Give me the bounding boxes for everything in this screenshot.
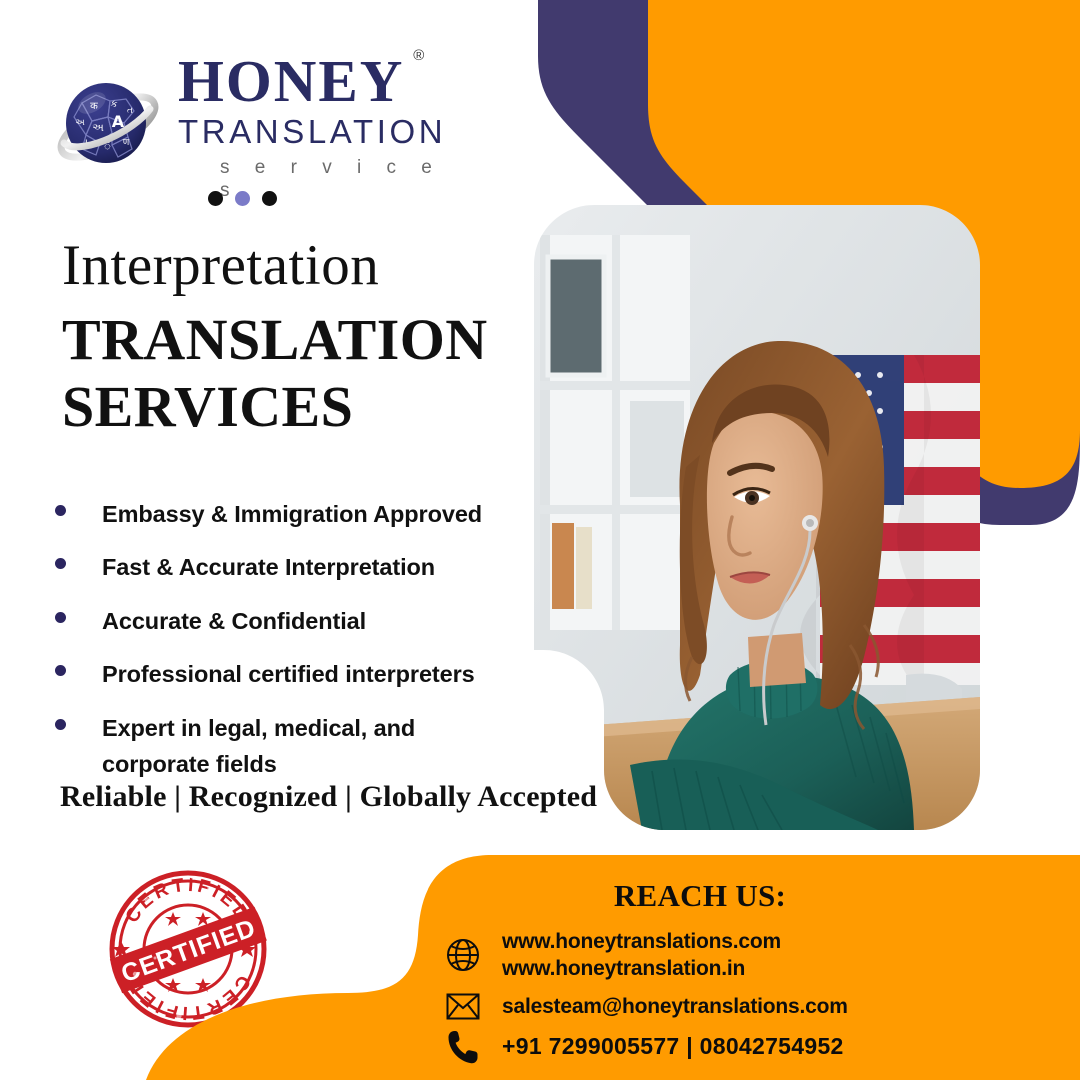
headline-script-line: Interpretation — [62, 236, 532, 296]
list-item: Expert in legal, medical, and corporate … — [55, 710, 535, 783]
website-line-2[interactable]: www.honeytranslation.in — [502, 955, 781, 982]
bullet-dot-icon — [55, 612, 66, 623]
svg-text:અ: અ — [75, 118, 85, 128]
poster-canvas: क ક ત અ અ A ط ் ण — [0, 0, 1080, 1080]
list-item: Professional certified interpreters — [55, 656, 535, 692]
bullet-dot-icon — [55, 719, 66, 730]
decorative-dot-3 — [262, 191, 277, 206]
list-item: Accurate & Confidential — [55, 603, 535, 639]
decorative-dot-1 — [208, 191, 223, 206]
brand-logo[interactable]: क ક ત અ અ A ط ் ण — [52, 48, 472, 203]
logo-line-translation: TRANSLATION — [178, 113, 472, 151]
reach-us-title: REACH US: — [440, 878, 960, 914]
globe-icon — [440, 938, 486, 972]
logo-wordmark: HONEY® — [178, 52, 404, 111]
feature-text: Accurate & Confidential — [102, 603, 366, 639]
bullet-dot-icon — [55, 505, 66, 516]
svg-text:અ: અ — [92, 121, 104, 134]
contact-row-phone[interactable]: +91 7299005577 | 08042754952 — [440, 1030, 1070, 1064]
registered-mark-icon: ® — [413, 48, 424, 63]
feature-text: Fast & Accurate Interpretation — [102, 549, 435, 585]
headline-block: Interpretation TRANSLATION SERVICES — [62, 236, 532, 440]
list-item: Fast & Accurate Interpretation — [55, 549, 535, 585]
website-line-1[interactable]: www.honeytranslations.com — [502, 928, 781, 955]
hero-photo-frame — [534, 205, 980, 830]
headline-bold-line-1: TRANSLATION — [62, 306, 532, 373]
decorative-dot-2 — [235, 191, 250, 206]
feature-list: Embassy & Immigration Approved Fast & Ac… — [55, 496, 535, 800]
list-item: Embassy & Immigration Approved — [55, 496, 535, 532]
decorative-dots — [208, 191, 277, 206]
feature-text: Professional certified interpreters — [102, 656, 475, 692]
globe-languages-icon: क ક ત અ અ A ط ் ण — [52, 69, 164, 181]
feature-text: Expert in legal, medical, and corporate … — [102, 710, 452, 783]
envelope-icon — [440, 993, 486, 1020]
headline-bold-line-2: SERVICES — [62, 373, 532, 440]
bullet-dot-icon — [55, 665, 66, 676]
contact-row-email[interactable]: salesteam@honeytranslations.com — [440, 993, 1070, 1020]
phone-icon — [440, 1030, 486, 1064]
hero-photo — [534, 205, 980, 830]
website-text[interactable]: www.honeytranslations.com www.honeytrans… — [502, 928, 781, 983]
feature-text: Embassy & Immigration Approved — [102, 496, 482, 532]
tagline: Reliable | Recognized | Globally Accepte… — [60, 780, 597, 814]
phone-text[interactable]: +91 7299005577 | 08042754952 — [502, 1032, 844, 1062]
bullet-dot-icon — [55, 558, 66, 569]
svg-text:ण: ण — [123, 138, 130, 148]
certified-stamp-icon: CERTIFIED CERTIFIED CERTIFIED — [105, 866, 271, 1032]
reach-us-content: REACH US: www.honeytranslations.com www.… — [440, 878, 1070, 1074]
email-text[interactable]: salesteam@honeytranslations.com — [502, 993, 848, 1020]
contact-row-website[interactable]: www.honeytranslations.com www.honeytrans… — [440, 928, 1070, 983]
svg-text:ત: ત — [127, 106, 133, 116]
svg-text:ક: ક — [110, 99, 117, 110]
